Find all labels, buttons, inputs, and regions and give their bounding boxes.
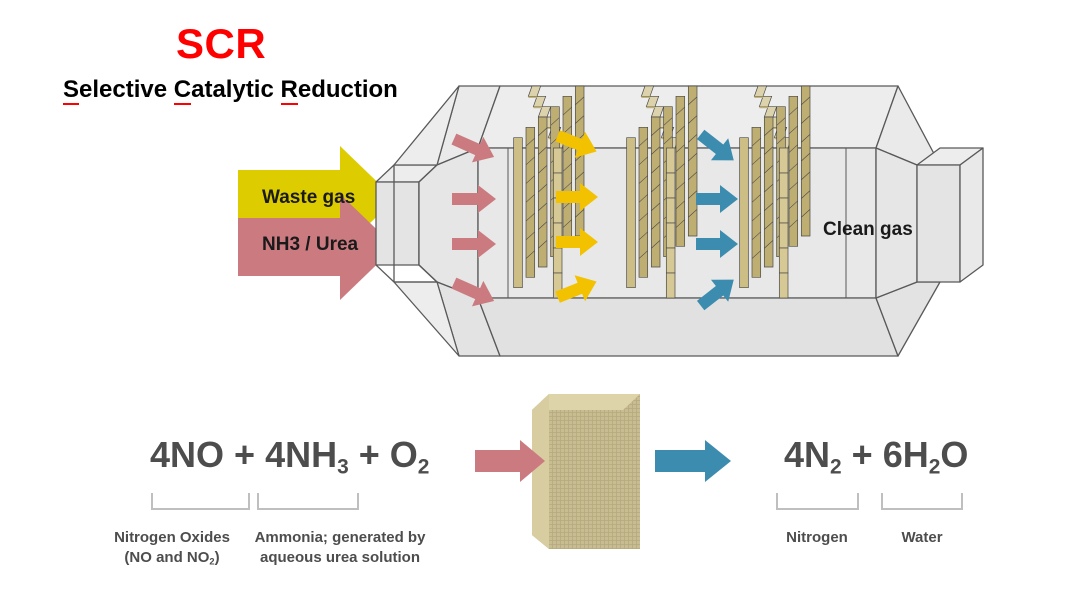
reactant-plus-2: + <box>349 434 390 475</box>
caption-nitrogen: Nitrogen <box>765 528 869 548</box>
honeycomb-catalyst-block <box>532 394 640 549</box>
caption-nox-line1: Nitrogen Oxides <box>114 529 230 546</box>
reactant-formula: 4NO + 4NH3 + O2 <box>150 434 429 479</box>
reactant-term-o: O <box>390 434 418 475</box>
caption-ammonia-line2: aqueous urea solution <box>260 549 420 566</box>
caption-nitrogen-oxides: Nitrogen Oxides(NO and NO2) <box>97 528 247 569</box>
bracket-ammonia <box>258 493 358 509</box>
reactant-sub-3: 3 <box>337 455 349 478</box>
product-term-o: O <box>940 434 968 475</box>
diagram-canvas: SCR Selective Catalytic Reduction <box>0 0 1085 593</box>
product-sub-h2: 2 <box>929 455 941 478</box>
caption-nox-line2-post: ) <box>215 549 220 566</box>
product-term-n: 4N <box>784 434 830 475</box>
caption-water: Water <box>875 528 969 548</box>
bracket-nitrogen <box>777 493 858 509</box>
product-sub-n2: 2 <box>830 455 842 478</box>
reaction-out-arrow <box>655 440 731 482</box>
catalyst-layers <box>510 86 810 298</box>
bracket-nox <box>152 493 249 509</box>
reactant-plus-1: + <box>224 434 265 475</box>
caption-ammonia-line1: Ammonia; generated by <box>255 529 426 546</box>
product-formula: 4N2 + 6H2O <box>784 434 968 479</box>
product-term-h: 6H <box>883 434 929 475</box>
scr-diagram-svg <box>0 0 1085 593</box>
product-plus: + <box>842 434 883 475</box>
bracket-water <box>882 493 962 509</box>
caption-nox-line2-pre: (NO and NO <box>124 549 209 566</box>
caption-ammonia: Ammonia; generated byaqueous urea soluti… <box>250 528 430 569</box>
reactant-sub-2: 2 <box>418 455 430 478</box>
reactant-term-no: 4NO <box>150 434 224 475</box>
reactant-term-nh: 4NH <box>265 434 337 475</box>
